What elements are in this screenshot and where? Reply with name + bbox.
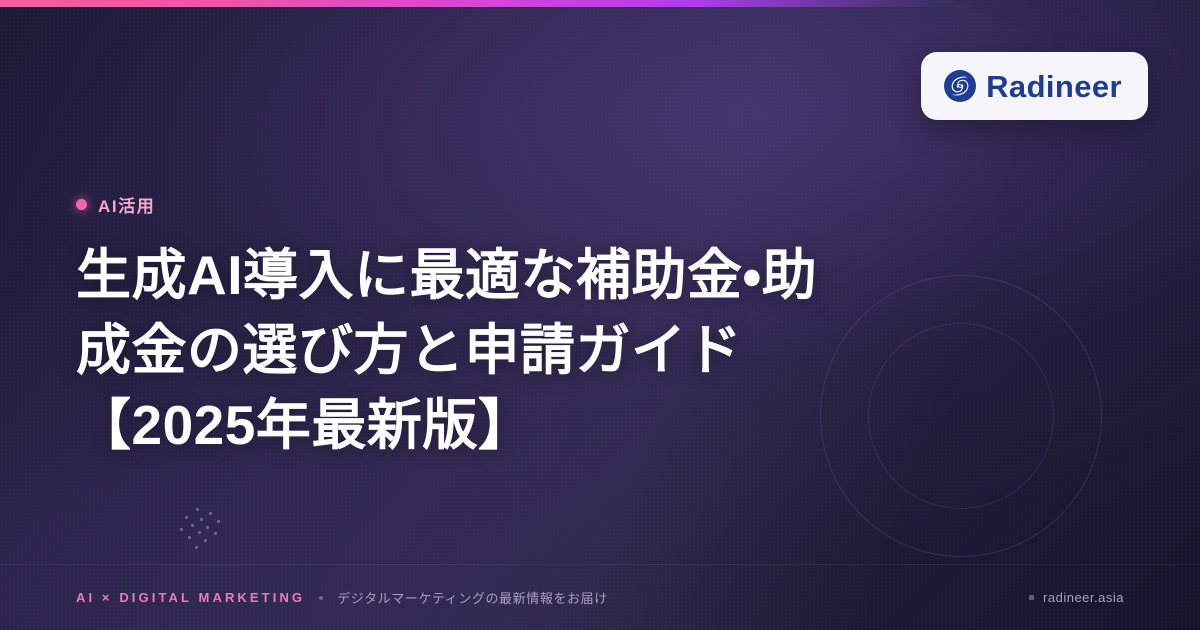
footer-site-domain: radineer.asia bbox=[1043, 590, 1124, 605]
footer-left-group: AI × DIGITAL MARKETING デジタルマーケティングの最新情報を… bbox=[76, 588, 608, 607]
dot-cluster-decoration bbox=[176, 508, 228, 554]
brand-logo-wordmark: Radineer bbox=[986, 71, 1122, 102]
top-accent-bar bbox=[0, 0, 1200, 7]
swirl-circle-icon bbox=[943, 69, 977, 103]
dot-separator-icon bbox=[319, 596, 323, 600]
footer-description: デジタルマーケティングの最新情報をお届け bbox=[337, 588, 608, 607]
brand-logo-chip[interactable]: Radineer bbox=[921, 52, 1148, 120]
footer-right-group[interactable]: radineer.asia bbox=[1029, 590, 1124, 605]
footer-tagline: AI × DIGITAL MARKETING bbox=[76, 590, 305, 605]
category-dot-icon bbox=[76, 199, 87, 210]
ring-inner-icon bbox=[868, 323, 1054, 509]
square-marker-icon bbox=[1029, 595, 1034, 600]
footer-bar: AI × DIGITAL MARKETING デジタルマーケティングの最新情報を… bbox=[0, 564, 1200, 630]
category-badge[interactable]: AI活用 bbox=[76, 192, 155, 217]
category-badge-label: AI活用 bbox=[98, 192, 155, 217]
og-card: Radineer AI活用 生成AI導入に最適な補助金・助成金の選び方と申請ガイ… bbox=[0, 0, 1200, 630]
page-title: 生成AI導入に最適な補助金・助成金の選び方と申請ガイド【2025年最新版】 bbox=[76, 238, 866, 462]
